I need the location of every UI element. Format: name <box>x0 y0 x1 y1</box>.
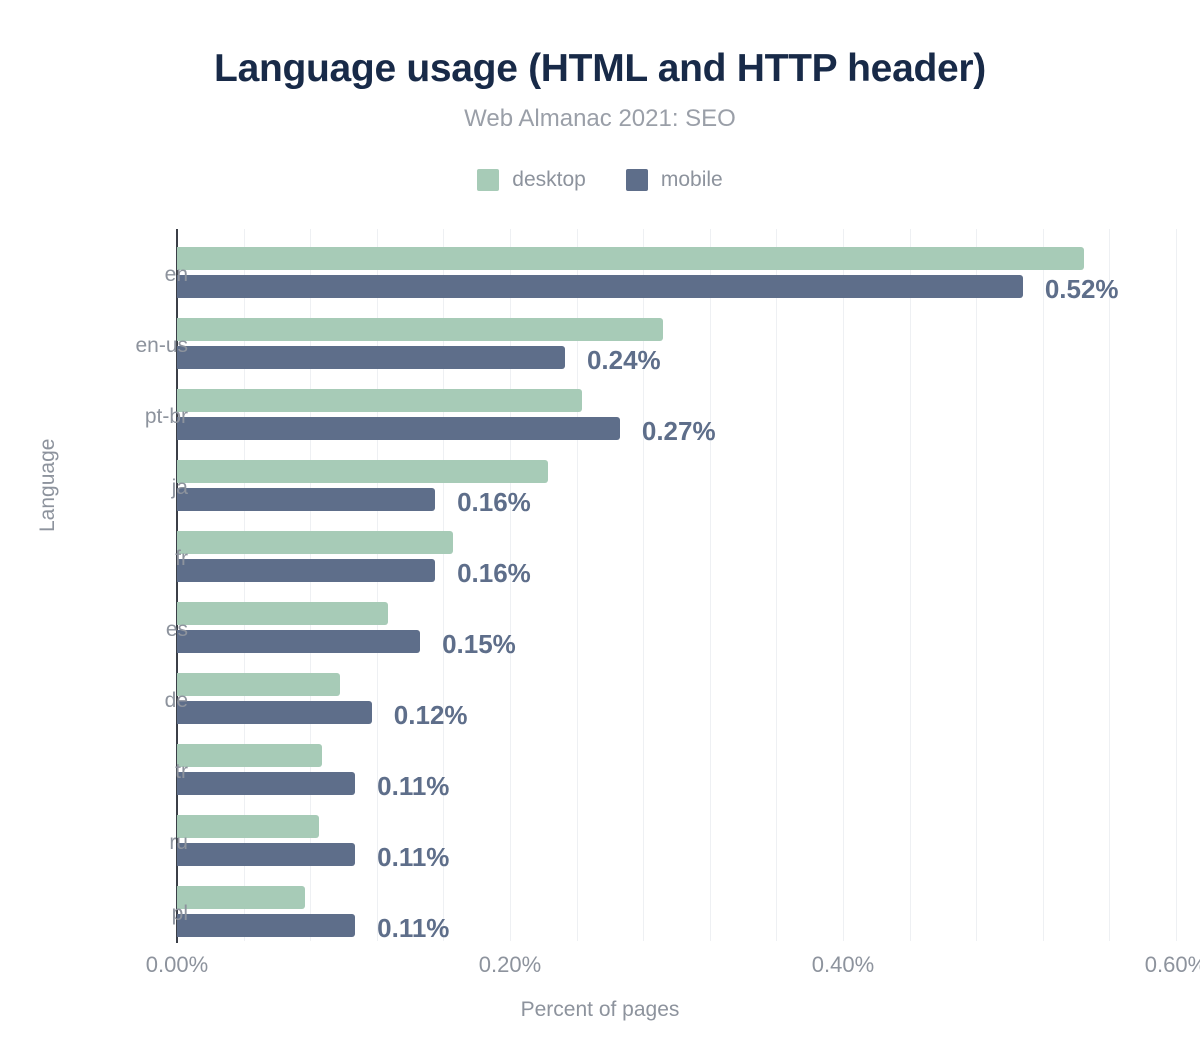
bar-value-label: 0.24% <box>587 345 661 376</box>
bar-desktop[interactable] <box>177 815 319 838</box>
bar-value-label: 0.12% <box>394 700 468 731</box>
legend-swatch-desktop-icon <box>477 169 499 191</box>
x-tick-label: 0.60% <box>1145 952 1200 978</box>
bar-group: 0.11% <box>177 744 1177 795</box>
y-axis-label-en-us: en-us <box>135 334 188 358</box>
bar-value-label: 0.11% <box>377 913 449 944</box>
bar-value-label: 0.27% <box>642 416 716 447</box>
bar-group: 0.52% <box>177 247 1177 298</box>
y-axis-label-tr: tr <box>175 760 188 784</box>
bar-desktop[interactable] <box>177 531 453 554</box>
bar-mobile[interactable] <box>177 914 355 937</box>
bar-desktop[interactable] <box>177 460 548 483</box>
bar-value-label: 0.16% <box>457 487 531 518</box>
bar-value-label: 0.16% <box>457 558 531 589</box>
chart-container: Language usage (HTML and HTTP header) We… <box>0 0 1200 1058</box>
bar-mobile[interactable] <box>177 346 565 369</box>
bar-desktop[interactable] <box>177 744 322 767</box>
y-axis-label-de: de <box>165 689 188 713</box>
bar-group: 0.11% <box>177 815 1177 866</box>
bar-value-label: 0.52% <box>1045 274 1119 305</box>
plot-area: 0.52%0.24%0.27%0.16%0.16%0.15%0.12%0.11%… <box>177 229 1177 941</box>
bar-value-label: 0.11% <box>377 771 449 802</box>
y-axis-label-pl: pl <box>172 902 188 926</box>
x-tick-label: 0.40% <box>812 952 874 978</box>
bar-desktop[interactable] <box>177 389 582 412</box>
y-axis-label-pt-br: pt-br <box>145 405 188 429</box>
bar-desktop[interactable] <box>177 247 1084 270</box>
bar-mobile[interactable] <box>177 630 420 653</box>
bar-group: 0.12% <box>177 673 1177 724</box>
bar-group: 0.16% <box>177 460 1177 511</box>
legend-label-desktop: desktop <box>512 168 586 192</box>
y-axis-label-es: es <box>166 618 188 642</box>
legend-label-mobile: mobile <box>661 168 723 192</box>
bar-desktop[interactable] <box>177 602 388 625</box>
y-axis-label-fr: fr <box>175 547 188 571</box>
x-tick-label: 0.00% <box>146 952 208 978</box>
y-axis-label-en: en <box>165 263 188 287</box>
bar-group: 0.16% <box>177 531 1177 582</box>
legend-item-desktop[interactable]: desktop <box>477 168 586 192</box>
bar-mobile[interactable] <box>177 417 620 440</box>
bar-group: 0.24% <box>177 318 1177 369</box>
bar-mobile[interactable] <box>177 701 372 724</box>
bar-group: 0.27% <box>177 389 1177 440</box>
bar-desktop[interactable] <box>177 886 305 909</box>
bar-desktop[interactable] <box>177 318 663 341</box>
y-axis-label-ru: ru <box>169 831 188 855</box>
bar-value-label: 0.15% <box>442 629 516 660</box>
bar-mobile[interactable] <box>177 559 435 582</box>
x-axis-title: Percent of pages <box>0 998 1200 1022</box>
bar-group: 0.11% <box>177 886 1177 937</box>
legend-item-mobile[interactable]: mobile <box>626 168 723 192</box>
chart-subtitle: Web Almanac 2021: SEO <box>0 105 1200 133</box>
x-tick-label: 0.20% <box>479 952 541 978</box>
legend-swatch-mobile-icon <box>626 169 648 191</box>
bar-mobile[interactable] <box>177 772 355 795</box>
bar-group: 0.15% <box>177 602 1177 653</box>
y-axis-label-ja: ja <box>172 476 188 500</box>
bar-mobile[interactable] <box>177 275 1023 298</box>
bar-mobile[interactable] <box>177 488 435 511</box>
bar-mobile[interactable] <box>177 843 355 866</box>
bar-value-label: 0.11% <box>377 842 449 873</box>
chart-title: Language usage (HTML and HTTP header) <box>0 47 1200 91</box>
y-axis-title: Language <box>36 492 60 532</box>
chart-legend: desktop mobile <box>0 168 1200 192</box>
bar-desktop[interactable] <box>177 673 340 696</box>
